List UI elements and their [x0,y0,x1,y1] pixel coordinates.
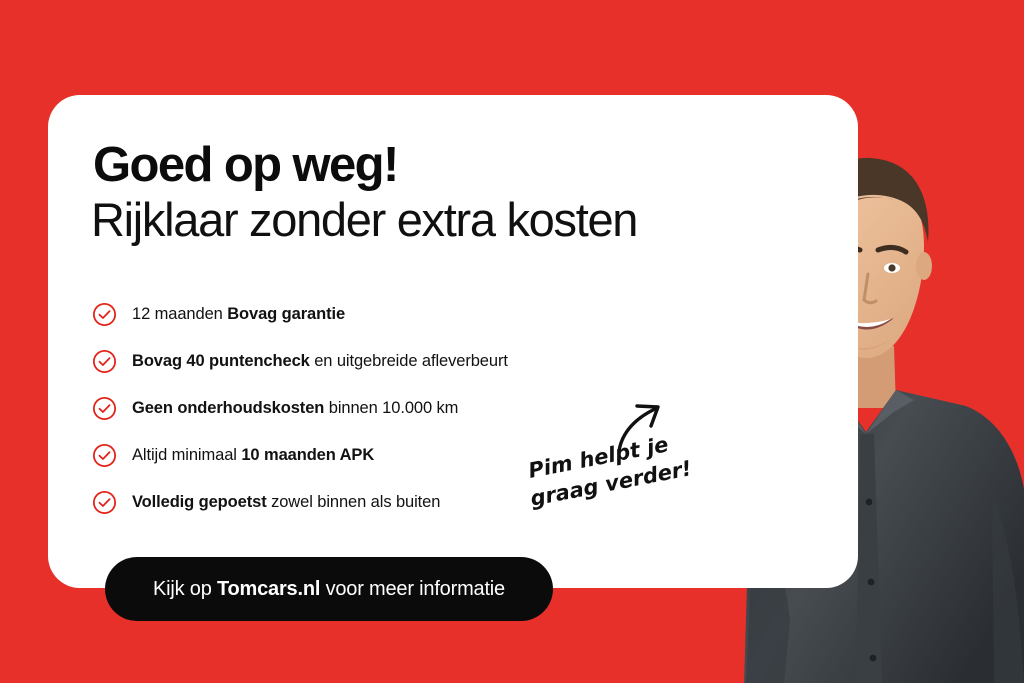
cta-button[interactable]: Kijk op Tomcars.nl voor meer informatie [105,557,553,621]
page-title: Goed op weg! [93,141,398,190]
check-circle-icon [92,349,117,374]
list-item-label: Altijd minimaal 10 maanden APK [132,446,374,465]
page-subtitle: Rijklaar zonder extra kosten [91,196,637,243]
list-item: Altijd minimaal 10 maanden APK [92,432,792,479]
list-item: Geen onderhoudskosten binnen 10.000 km [92,385,792,432]
list-item-label: 12 maanden Bovag garantie [132,305,345,324]
check-circle-icon [92,443,117,468]
list-item: 12 maanden Bovag garantie [92,291,792,338]
list-item-label: Volledig gepoetst zowel binnen als buite… [132,493,440,512]
list-item: Volledig gepoetst zowel binnen als buite… [92,479,792,526]
cta-label: Kijk op Tomcars.nl voor meer informatie [153,578,505,601]
list-item-label: Geen onderhoudskosten binnen 10.000 km [132,399,458,418]
check-circle-icon [92,302,117,327]
benefits-list: 12 maanden Bovag garantie Bovag 40 punte… [92,291,792,526]
banner-stage: Goed op weg! Rijklaar zonder extra koste… [0,0,1024,683]
list-item: Bovag 40 puntencheck en uitgebreide afle… [92,338,792,385]
check-circle-icon [92,396,117,421]
check-circle-icon [92,490,117,515]
content-card: Goed op weg! Rijklaar zonder extra koste… [48,95,858,588]
list-item-label: Bovag 40 puntencheck en uitgebreide afle… [132,352,508,371]
